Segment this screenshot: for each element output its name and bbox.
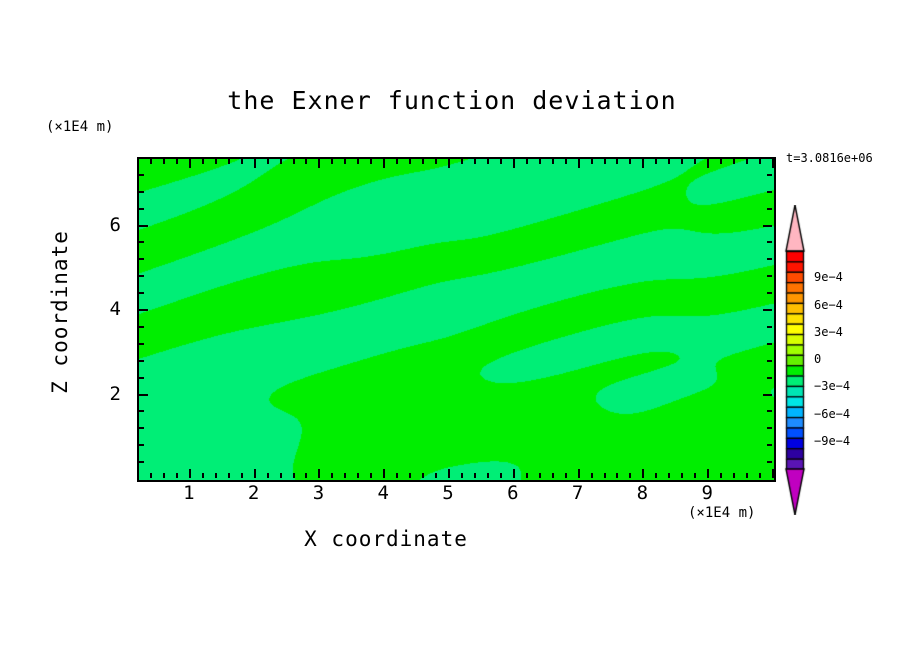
axis-tick [552,159,554,164]
axis-tick [331,159,333,164]
colorbar-tick-label: 3e−4 [814,325,843,339]
axis-tick [241,473,243,478]
axis-tick [487,159,489,164]
axis-tick [767,461,772,463]
axis-tick [513,159,515,168]
z-axis-unit-label: (×1E4 m) [46,119,113,135]
axis-tick [254,469,256,478]
axis-tick [767,343,772,345]
axis-tick [215,473,217,478]
axis-tick [694,159,696,164]
axis-tick [591,159,593,164]
axis-tick [668,159,670,164]
axis-tick [139,461,144,463]
axis-tick [139,258,144,260]
axis-tick [139,225,148,227]
axis-tick [137,159,139,164]
axis-tick [139,394,148,396]
x-tick-label: 5 [428,482,468,504]
axis-tick [293,473,295,478]
axis-tick [694,473,696,478]
axis-tick [707,469,709,478]
axis-tick [163,473,165,478]
axis-tick [604,159,606,164]
axis-tick [591,473,593,478]
x-tick-label: 4 [363,482,403,504]
x-tick-label: 9 [687,482,727,504]
axis-tick [763,394,772,396]
axis-tick [578,159,580,168]
z-tick-label: 6 [81,214,121,236]
axis-tick [668,473,670,478]
axis-tick [500,159,502,164]
axis-tick [228,473,230,478]
axis-tick [526,473,528,478]
axis-tick [139,343,144,345]
axis-tick [344,473,346,478]
axis-tick [139,326,144,328]
axis-tick [202,159,204,164]
axis-tick [139,174,144,176]
axis-tick [500,473,502,478]
x-tick-label: 6 [493,482,533,504]
axis-tick [409,473,411,478]
axis-tick [254,159,256,168]
axis-tick [176,473,178,478]
axis-tick [137,473,139,478]
axis-tick [370,473,372,478]
axis-tick [767,258,772,260]
axis-tick [139,427,144,429]
axis-tick [767,174,772,176]
axis-tick [720,159,722,164]
axis-tick [396,159,398,164]
axis-tick [176,159,178,164]
colorbar-tick-label: 6e−4 [814,298,843,312]
axis-tick [383,469,385,478]
contour-plot-area [137,157,776,482]
axis-tick [422,473,424,478]
axis-tick [344,159,346,164]
x-tick-label: 1 [169,482,209,504]
axis-tick [746,473,748,478]
axis-tick [139,157,144,159]
axis-tick [474,473,476,478]
axis-tick [305,473,307,478]
axis-tick [305,159,307,164]
axis-tick [642,469,644,478]
x-tick-label: 2 [234,482,274,504]
axis-tick [331,473,333,478]
colorbar-tick-label: −9e−4 [814,434,850,448]
axis-tick [139,275,144,277]
axis-tick [139,377,144,379]
axis-tick [150,159,152,164]
axis-tick [461,473,463,478]
axis-tick [578,469,580,478]
figure-canvas: the Exner function deviation (×1E4 m) (×… [0,0,904,654]
colorbar-tick-label: −6e−4 [814,407,850,421]
axis-tick [681,159,683,164]
axis-tick [759,473,761,478]
axis-tick [767,157,772,159]
axis-tick [448,159,450,168]
z-tick-label: 2 [81,383,121,405]
axis-tick [767,410,772,412]
axis-tick [435,473,437,478]
axis-tick [357,473,359,478]
colorbar-gradient [783,205,807,515]
axis-tick [280,159,282,164]
axis-tick [139,360,144,362]
axis-tick [150,473,152,478]
axis-tick [189,159,191,168]
axis-tick [772,469,774,478]
axis-tick [318,159,320,168]
axis-tick [139,309,148,311]
axis-tick [759,159,761,164]
axis-tick [746,159,748,164]
axis-tick [139,410,144,412]
axis-tick [767,191,772,193]
colorbar-tick-label: −3e−4 [814,379,850,393]
axis-tick [767,275,772,277]
axis-tick [513,469,515,478]
chart-title: the Exner function deviation [0,86,904,115]
axis-tick [767,292,772,294]
axis-tick [409,159,411,164]
axis-tick [604,473,606,478]
axis-tick [767,208,772,210]
axis-tick [189,469,191,478]
z-tick-label: 4 [81,298,121,320]
axis-tick [655,159,657,164]
axis-tick [370,159,372,164]
axis-tick [487,473,489,478]
axis-tick [767,326,772,328]
axis-tick [202,473,204,478]
axis-tick [767,360,772,362]
axis-tick [539,159,541,164]
axis-tick [767,444,772,446]
axis-tick [629,473,631,478]
axis-tick [733,159,735,164]
axis-tick [767,427,772,429]
axis-tick [318,469,320,478]
axis-tick [565,473,567,478]
axis-tick [707,159,709,168]
axis-tick [422,159,424,164]
axis-tick [267,159,269,164]
axis-tick [763,309,772,311]
axis-tick [139,444,144,446]
axis-tick [552,473,554,478]
axis-tick [139,208,144,210]
axis-tick [139,292,144,294]
axis-tick [139,241,144,243]
axis-tick [720,473,722,478]
axis-tick [655,473,657,478]
axis-tick [357,159,359,164]
axis-tick [448,469,450,478]
colorbar [783,205,807,515]
axis-tick [396,473,398,478]
axis-tick [629,159,631,164]
axis-tick [241,159,243,164]
axis-tick [474,159,476,164]
axis-tick [435,159,437,164]
axis-tick [767,377,772,379]
colorbar-tick-label: 0 [814,352,821,366]
x-tick-label: 8 [622,482,662,504]
axis-tick [461,159,463,164]
timestamp-annotation: t=3.0816e+06 [786,151,873,165]
axis-tick [280,473,282,478]
axis-tick [383,159,385,168]
x-tick-label: 7 [558,482,598,504]
axis-tick [139,191,144,193]
axis-tick [565,159,567,164]
axis-tick [228,159,230,164]
x-axis-title: X coordinate [0,527,772,551]
axis-tick [763,225,772,227]
axis-tick [267,473,269,478]
axis-tick [539,473,541,478]
z-axis-title: Z coordinate [48,212,72,412]
axis-tick [733,473,735,478]
axis-tick [215,159,217,164]
axis-tick [526,159,528,164]
axis-tick [616,473,618,478]
axis-tick [772,159,774,168]
contour-field [139,159,774,480]
axis-tick [616,159,618,164]
colorbar-tick-label: 9e−4 [814,270,843,284]
axis-tick [681,473,683,478]
x-axis-unit-label: (×1E4 m) [688,505,755,521]
axis-tick [642,159,644,168]
x-tick-label: 3 [298,482,338,504]
axis-tick [163,159,165,164]
axis-tick [767,241,772,243]
axis-tick [293,159,295,164]
